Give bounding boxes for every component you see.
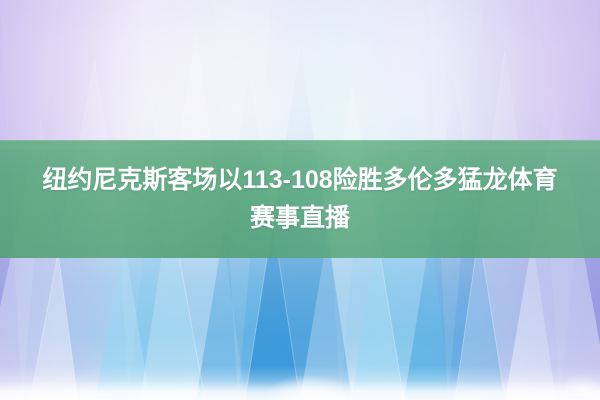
bottom-highlight-right	[560, 374, 600, 396]
banner-image: 纽约尼克斯客场以113-108险胜多伦多猛龙体育 赛事直播	[0, 0, 600, 400]
bottom-highlight-center	[268, 376, 352, 400]
headline-line-1: 纽约尼克斯客场以113-108险胜多伦多猛龙体育	[42, 164, 557, 196]
top-color-wash	[0, 0, 600, 145]
headline-line-2: 赛事直播	[250, 202, 350, 234]
headline-text-block: 纽约尼克斯客场以113-108险胜多伦多猛龙体育 赛事直播	[0, 140, 600, 258]
